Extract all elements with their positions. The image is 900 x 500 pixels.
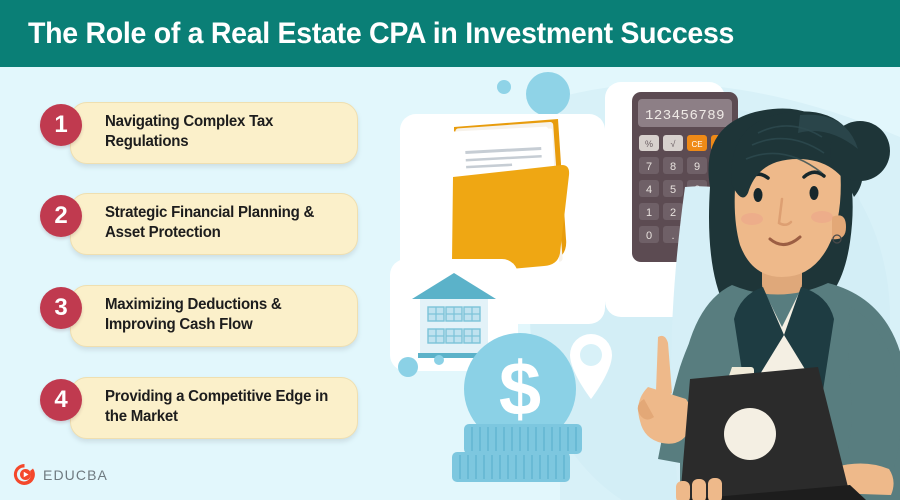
infographic-canvas: The Role of a Real Estate CPA in Investm…: [0, 0, 900, 500]
list-item-label: Providing a Competitive Edge in the Mark…: [105, 387, 336, 428]
decor-dot-small: [497, 80, 511, 94]
svg-text:9: 9: [694, 161, 700, 173]
brand-logo[interactable]: EDUCBA: [12, 462, 108, 487]
list-item-pill: Maximizing Deductions & Improving Cash F…: [70, 285, 358, 347]
money-symbol: $: [499, 347, 541, 432]
decor-circle-large: [526, 72, 570, 116]
svg-text:4: 4: [646, 184, 652, 196]
svg-text:5: 5: [670, 184, 676, 196]
coin-stack: [452, 424, 582, 482]
svg-text:7: 7: [646, 161, 652, 173]
header-bar: The Role of a Real Estate CPA in Investm…: [0, 0, 900, 67]
list-item-label: Strategic Financial Planning & Asset Pro…: [105, 203, 336, 244]
svg-text:CE: CE: [691, 140, 702, 149]
hand-holding-laptop: [676, 478, 722, 500]
educba-logo-icon: [12, 462, 37, 487]
svg-text:1: 1: [646, 207, 652, 219]
decor-dot: [434, 355, 444, 365]
list-item-number-badge: 1: [40, 104, 82, 146]
document-folder-illustration: [449, 118, 569, 274]
page-title: The Role of a Real Estate CPA in Investm…: [28, 17, 734, 51]
list-item-number-badge: 3: [40, 287, 82, 329]
svg-text:0: 0: [646, 230, 652, 242]
calculator-display-value: 123456789: [645, 108, 725, 124]
brand-logo-label: EDUCBA: [43, 467, 108, 483]
decor-dot: [398, 357, 418, 377]
svg-text:.: .: [671, 230, 674, 242]
illustration-area: $: [380, 67, 900, 500]
illustration-svg: $: [380, 67, 900, 500]
svg-text:2: 2: [670, 207, 676, 219]
list-item-number-badge: 2: [40, 195, 82, 237]
svg-text:%: %: [645, 139, 653, 149]
list-item-label: Navigating Complex Tax Regulations: [105, 112, 336, 153]
laptop-logo-icon: [724, 408, 776, 460]
svg-text:8: 8: [670, 161, 676, 173]
list-item-pill: Strategic Financial Planning & Asset Pro…: [70, 193, 358, 255]
list-item-pill: Navigating Complex Tax Regulations: [70, 102, 358, 164]
eye-left: [754, 188, 763, 202]
list-item-number-badge: 4: [40, 379, 82, 421]
eye-right: [810, 186, 819, 200]
svg-text:√: √: [671, 139, 676, 149]
benefits-list: Navigating Complex Tax Regulations 1 Str…: [0, 67, 380, 500]
list-item-label: Maximizing Deductions & Improving Cash F…: [105, 295, 336, 336]
list-item-pill: Providing a Competitive Edge in the Mark…: [70, 377, 358, 439]
